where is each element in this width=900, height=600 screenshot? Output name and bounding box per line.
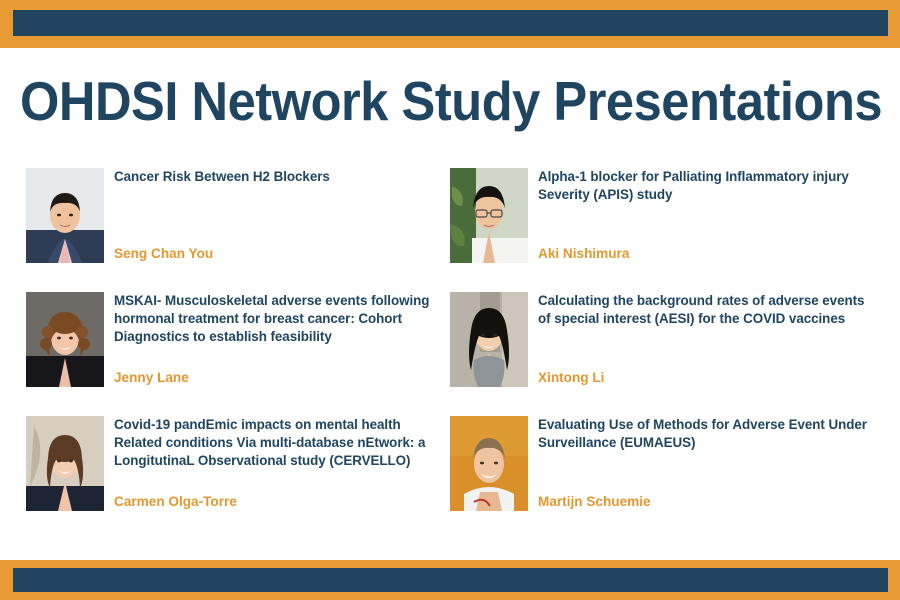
- presentation-entry[interactable]: Calculating the background rates of adve…: [450, 292, 870, 387]
- presenter-name: Jenny Lane: [114, 369, 446, 387]
- presenter-name: Seng Chan You: [114, 245, 446, 263]
- presenter-photo: [26, 292, 104, 387]
- presentation-title: Alpha-1 blocker for Palliating Inflammat…: [538, 168, 870, 204]
- presenter-photo: [450, 416, 528, 511]
- presenter-name: Carmen Olga-Torre: [114, 493, 446, 511]
- presentation-entry[interactable]: MSKAI- Musculoskeletal adverse events fo…: [26, 292, 446, 387]
- presenter-name: Xintong Li: [538, 369, 870, 387]
- presenter-photo: [26, 416, 104, 511]
- presentation-body: Calculating the background rates of adve…: [528, 292, 870, 387]
- presentation-body: Alpha-1 blocker for Palliating Inflammat…: [528, 168, 870, 263]
- presentation-entry[interactable]: Covid-19 pandEmic impacts on mental heal…: [26, 416, 446, 511]
- presentation-entry[interactable]: Cancer Risk Between H2 Blockers Seng Cha…: [26, 168, 446, 263]
- presentation-title: Cancer Risk Between H2 Blockers: [114, 168, 446, 186]
- presentation-title: Covid-19 pandEmic impacts on mental heal…: [114, 416, 446, 470]
- page-title: OHDSI Network Study Presentations: [20, 72, 882, 130]
- top-accent-bar: [13, 10, 888, 36]
- presenter-name: Aki Nishimura: [538, 245, 870, 263]
- presentations-grid: Cancer Risk Between H2 Blockers Seng Cha…: [0, 168, 900, 552]
- presentation-entry[interactable]: Alpha-1 blocker for Palliating Inflammat…: [450, 168, 870, 263]
- presentation-body: Evaluating Use of Methods for Adverse Ev…: [528, 416, 870, 511]
- presenter-name: Martijn Schuemie: [538, 493, 870, 511]
- presenter-photo: [450, 168, 528, 263]
- bottom-accent-bar: [13, 568, 888, 592]
- presentation-body: Cancer Risk Between H2 Blockers Seng Cha…: [104, 168, 446, 263]
- presentation-title: MSKAI- Musculoskeletal adverse events fo…: [114, 292, 446, 346]
- presentation-body: MSKAI- Musculoskeletal adverse events fo…: [104, 292, 446, 387]
- presentation-title: Evaluating Use of Methods for Adverse Ev…: [538, 416, 870, 452]
- slide: OHDSI Network Study Presentations: [0, 0, 900, 600]
- presentation-title: Calculating the background rates of adve…: [538, 292, 870, 328]
- presenter-photo: [26, 168, 104, 263]
- presenter-photo: [450, 292, 528, 387]
- presentation-body: Covid-19 pandEmic impacts on mental heal…: [104, 416, 446, 511]
- presentation-entry[interactable]: Evaluating Use of Methods for Adverse Ev…: [450, 416, 870, 511]
